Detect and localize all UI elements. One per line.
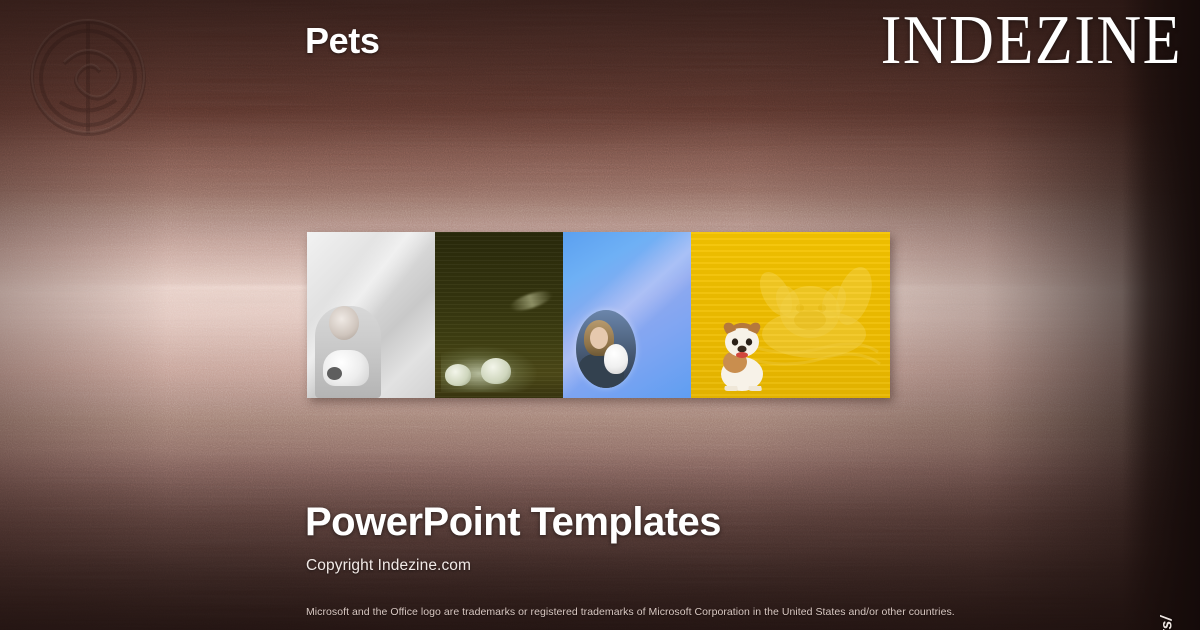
thumb3-white-puppy: [604, 344, 628, 374]
thumb-child-with-puppy-grayscale[interactable]: [307, 232, 435, 398]
headline-text: PowerPoint Templates: [305, 500, 721, 545]
trademark-disclaimer: Microsoft and the Office logo are tradem…: [306, 606, 955, 618]
thumbnail-strip: [307, 232, 890, 398]
thumb-animals-olive-field[interactable]: [435, 232, 563, 398]
thumb2-animal-left: [445, 364, 471, 386]
thumb2-animal-right: [481, 358, 511, 384]
thumb3-oval-photo: [576, 310, 636, 388]
page-title: Pets: [305, 20, 379, 62]
copyright-text: Copyright Indezine.com: [306, 557, 471, 575]
thumb1-child-head: [329, 306, 359, 340]
vertical-url-label: indezine.com/powerpoint/templates/catego…: [1159, 616, 1177, 630]
thumb4-bulldog: [711, 318, 773, 392]
thumb-bulldog-yellow[interactable]: [691, 232, 890, 398]
background-right-dark-band: [1122, 0, 1200, 630]
thumb3-woman-face: [590, 327, 608, 349]
thumb-woman-with-puppy-blue[interactable]: [563, 232, 691, 398]
thumb1-puppy-patch: [327, 367, 342, 380]
brand-logo: INDEZINE: [881, 6, 1182, 75]
circular-swirl-emblem-icon: [20, 6, 156, 156]
slide-canvas: Pets INDEZINE indezine.com/powerpoint/te…: [0, 0, 1200, 630]
